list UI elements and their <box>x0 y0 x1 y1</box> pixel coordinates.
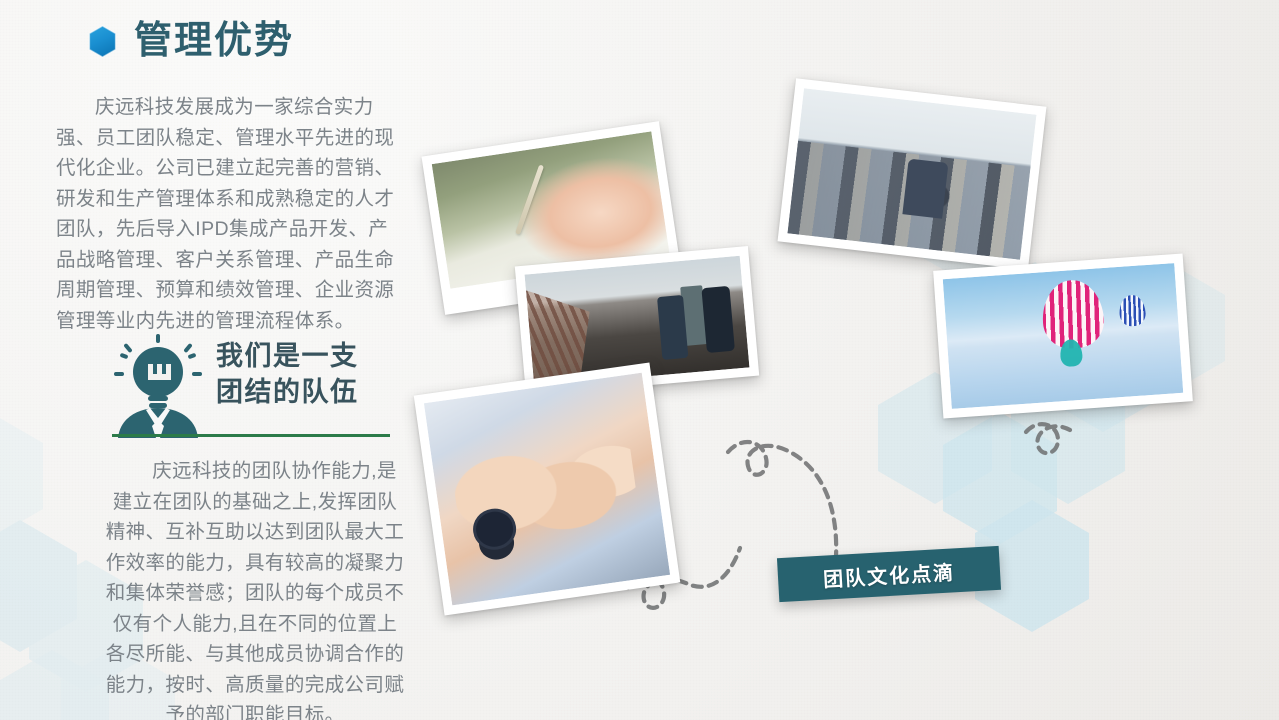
team-heading-underline <box>112 434 390 437</box>
photo-hands[interactable] <box>414 363 681 616</box>
lightbulb-head-person-icon <box>112 334 204 438</box>
team-culture-banner-label: 团队文化点滴 <box>822 556 955 592</box>
team-heading-line-2: 团结的队伍 <box>216 374 359 410</box>
team-culture-banner[interactable]: 团队文化点滴 <box>777 546 1001 602</box>
photo-office[interactable] <box>778 78 1047 269</box>
photo-hands-image <box>424 373 670 606</box>
page-title-row: 管理优势 <box>88 22 294 60</box>
slide-canvas: 管理优势 庆远科技发展成为一家综合实力强、员工团队稳定、管理水平先进的现代化企业… <box>0 0 1279 720</box>
hexagon-icon <box>88 25 117 58</box>
teamwork-paragraph: 庆远科技的团队协作能力,是建立在团队的基础之上,发挥团队精神、互补互助以达到团队… <box>104 456 406 720</box>
team-heading: 我们是一支 团结的队伍 <box>216 338 359 410</box>
intro-paragraph: 庆远科技发展成为一家综合实力强、员工团队稳定、管理水平先进的现代化企业。公司已建… <box>56 92 406 336</box>
photo-office-image <box>787 88 1036 260</box>
photo-balloon-image <box>943 263 1184 409</box>
photo-balloon[interactable] <box>933 253 1193 418</box>
page-title: 管理优势 <box>134 22 294 60</box>
team-heading-line-1: 我们是一支 <box>216 338 359 374</box>
